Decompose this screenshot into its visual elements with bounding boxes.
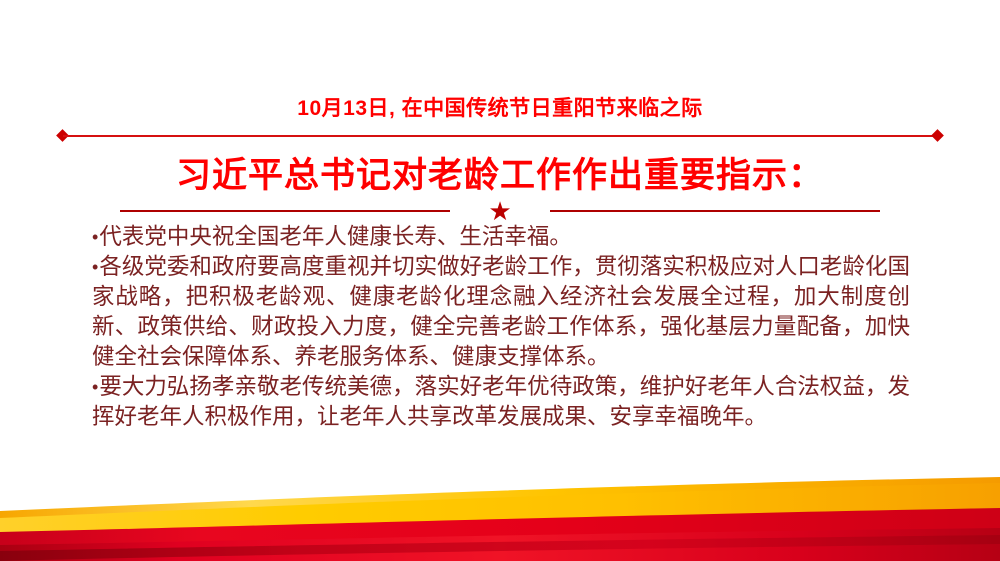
body-paragraph: •要大力弘扬孝亲敬老传统美德，落实好老年优待政策，维护好老年人合法权益，发挥好老… bbox=[92, 372, 910, 432]
star-icon: ★ bbox=[488, 199, 511, 223]
ribbon-graphic bbox=[0, 471, 1000, 561]
body-paragraph-text: 要大力弘扬孝亲敬老传统美德，落实好老年优待政策，维护好老年人合法权益，发挥好老年… bbox=[92, 374, 910, 429]
body-paragraph: •代表党中央祝全国老年人健康长寿、生活幸福。 bbox=[92, 222, 910, 252]
slide-canvas: 10月13日, 在中国传统节日重阳节来临之际 习近平总书记对老龄工作作出重要指示… bbox=[0, 0, 1000, 561]
slide-subtitle: 10月13日, 在中国传统节日重阳节来临之际 bbox=[0, 92, 1000, 122]
top-divider-line bbox=[63, 135, 937, 137]
star-divider-line-right bbox=[550, 210, 880, 212]
body-paragraph-text: 代表党中央祝全国老年人健康长寿、生活幸福。 bbox=[99, 224, 572, 249]
diamond-cap-right-icon bbox=[931, 129, 944, 142]
body-paragraph: •各级党委和政府要高度重视并切实做好老龄工作，贯彻落实积极应对人口老龄化国家战略… bbox=[92, 252, 910, 372]
star-divider: ★ bbox=[120, 199, 880, 223]
body-content: •代表党中央祝全国老年人健康长寿、生活幸福。 •各级党委和政府要高度重视并切实做… bbox=[92, 222, 910, 432]
star-divider-line-left bbox=[120, 210, 450, 212]
body-paragraph-text: 各级党委和政府要高度重视并切实做好老龄工作，贯彻落实积极应对人口老龄化国家战略，… bbox=[92, 254, 910, 369]
top-divider bbox=[58, 131, 942, 141]
bottom-ribbon-decoration bbox=[0, 471, 1000, 561]
page-title: 习近平总书记对老龄工作作出重要指示： bbox=[0, 147, 1000, 198]
